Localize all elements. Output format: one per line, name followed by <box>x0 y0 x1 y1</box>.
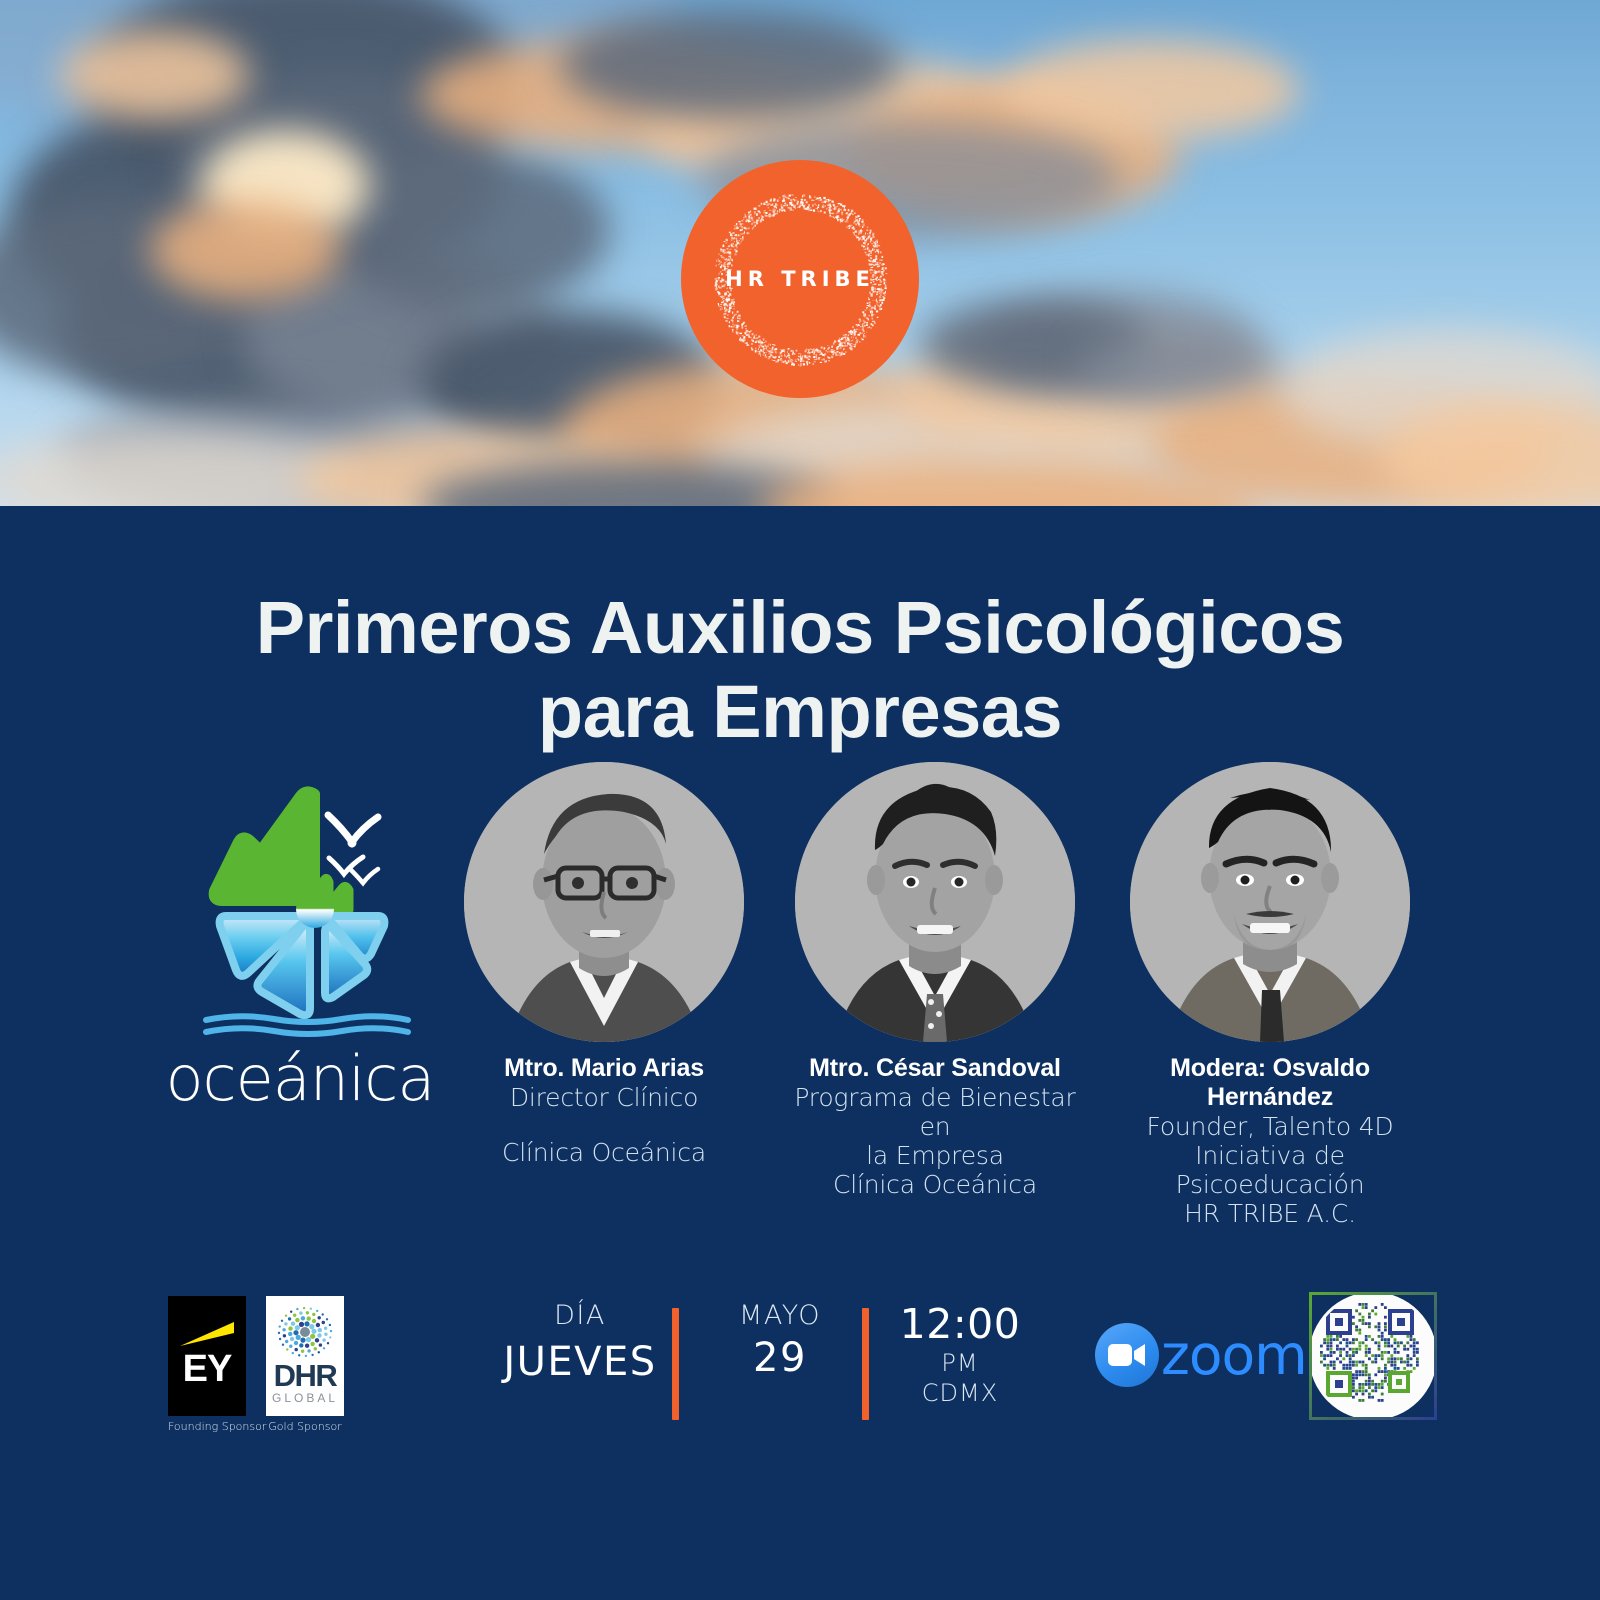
speaker-role-line-1: Director Clínico <box>454 1083 754 1112</box>
date-divider <box>862 1308 869 1420</box>
speaker-role-line-1: Founder, Talento 4D <box>1120 1112 1420 1141</box>
hr-tribe-logo: HR TRIBE <box>681 160 919 398</box>
speaker-role-line-2: Iniciativa de Psicoeducación <box>1120 1141 1420 1199</box>
day-value: JUEVES <box>500 1339 660 1385</box>
speaker-organization: HR TRIBE A.C. <box>1120 1199 1420 1228</box>
qr-code[interactable] <box>1309 1292 1437 1420</box>
title-line-1: Primeros Auxilios Psicológicos <box>0 586 1600 670</box>
speaker-role-line-1: Programa de Bienestar en <box>785 1083 1085 1141</box>
speaker-card: Mtro. Mario Arias Director Clínico Clíni… <box>454 762 754 1167</box>
speakers-row: Mtro. Mario Arias Director Clínico Clíni… <box>440 762 1450 1182</box>
dhr-logo: DHR GLOBAL <box>266 1296 344 1416</box>
ey-wordmark: EY <box>168 1348 246 1391</box>
qr-code-icon <box>1312 1295 1428 1411</box>
oceanica-pinwheel-icon <box>182 770 422 1042</box>
ey-logo: EY <box>168 1296 246 1416</box>
dhr-wordmark: DHR <box>266 1358 344 1394</box>
oceanica-logo: oceánica <box>160 770 440 1150</box>
avatar <box>795 762 1075 1042</box>
zoom-icon <box>1095 1323 1159 1387</box>
day-column: DÍA JUEVES <box>500 1300 660 1385</box>
sponsor-caption: Gold Sponsor <box>266 1420 344 1433</box>
speaker-name: Modera: Osvaldo Hernández <box>1120 1054 1420 1112</box>
oceanica-wordmark: oceánica <box>160 1042 440 1115</box>
speaker-organization: Clínica Oceánica <box>454 1138 754 1167</box>
month-column: MAYO 29 <box>700 1300 860 1381</box>
speaker-name: Mtro. César Sandoval <box>785 1054 1085 1083</box>
event-meridiem: PM <box>890 1348 1030 1378</box>
day-number: 29 <box>700 1335 860 1381</box>
event-time: 12:00 <box>890 1300 1030 1348</box>
date-divider <box>672 1308 679 1420</box>
dhr-subwordmark: GLOBAL <box>266 1391 344 1405</box>
ey-beam-icon <box>180 1322 234 1348</box>
video-camera-icon <box>1108 1342 1146 1368</box>
title-line-2: para Empresas <box>0 670 1600 754</box>
sponsors-row: EY Founding Sponsor DHR GLOBAL Gold Spon… <box>168 1296 348 1446</box>
event-date-block: DÍA JUEVES MAYO 29 12:00 PM CDMX <box>500 1300 1030 1430</box>
speaker-name: Mtro. Mario Arias <box>454 1054 754 1083</box>
poster-title: Primeros Auxilios Psicológicos para Empr… <box>0 586 1600 755</box>
sponsor-ey: EY Founding Sponsor <box>168 1296 246 1433</box>
zoom-platform: zoom <box>1095 1310 1295 1400</box>
time-column: 12:00 PM CDMX <box>890 1300 1030 1408</box>
dhr-dot-burst-icon <box>275 1306 335 1358</box>
event-timezone: CDMX <box>890 1378 1030 1408</box>
sponsor-dhr-global: DHR GLOBAL Gold Sponsor <box>266 1296 344 1433</box>
speaker-card: Mtro. César Sandoval Programa de Bienest… <box>785 762 1085 1199</box>
zoom-wordmark: zoom <box>1161 1328 1307 1383</box>
speaker-organization: Clínica Oceánica <box>785 1170 1085 1199</box>
avatar <box>1130 762 1410 1042</box>
month-label: MAYO <box>700 1300 860 1331</box>
day-label: DÍA <box>500 1300 660 1331</box>
hr-tribe-label: HR TRIBE <box>725 267 875 291</box>
sponsor-caption: Founding Sponsor <box>168 1420 246 1433</box>
speaker-card: Modera: Osvaldo Hernández Founder, Talen… <box>1120 762 1420 1228</box>
speaker-role-line-2: la Empresa <box>785 1141 1085 1170</box>
sky-photo-banner: HR TRIBE <box>0 0 1600 506</box>
event-poster: HR TRIBE Primeros Auxilios Psicológicos … <box>0 0 1600 1600</box>
avatar <box>464 762 744 1042</box>
